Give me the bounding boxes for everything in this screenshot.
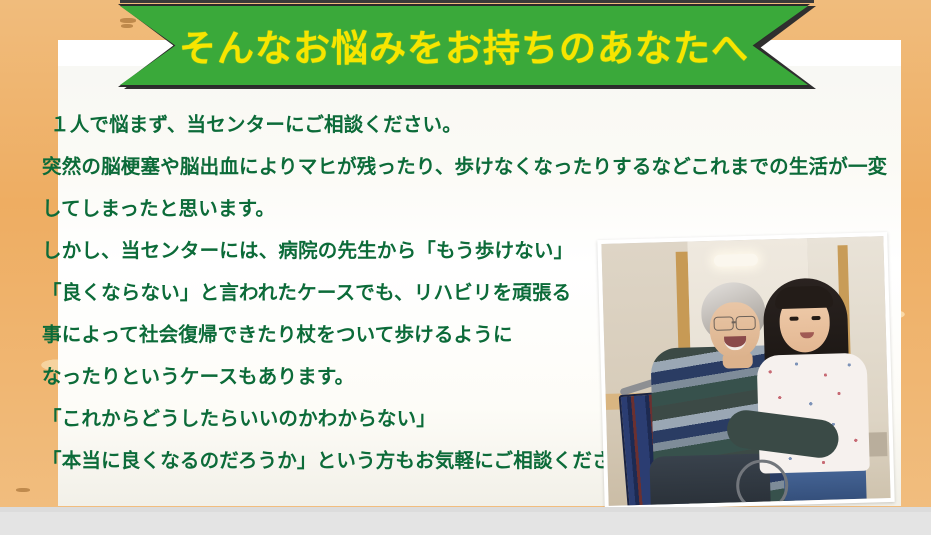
photo-woman-glasses-right — [735, 316, 755, 331]
ribbon-banner: そんなお悩みをお持ちのあなたへ — [118, 0, 818, 92]
photo-ceiling-light — [714, 254, 758, 267]
photo-image — [601, 236, 890, 506]
body-line: しかし、当センターには、病院の先生から「もう歩けない」 — [42, 230, 682, 272]
photo-woman-glasses-left — [713, 316, 733, 331]
body-line: １人で悩まず、当センターにご相談ください。 — [42, 104, 682, 146]
body-line: 突然の脳梗塞や脳出血によりマヒが残ったり、歩けなくなったりするなどこれまでの生活… — [42, 146, 682, 188]
photo-girl-bangs — [775, 286, 834, 310]
body-line: 事によって社会復帰できたり杖をついて歩けるように — [42, 314, 682, 356]
body-line: してしまったと思います。 — [42, 188, 682, 230]
ribbon-body: そんなお悩みをお持ちのあなたへ — [120, 6, 808, 85]
bottom-strip — [0, 507, 931, 535]
photo-woman-glasses-bridge — [732, 321, 736, 323]
promo-banner-stage: そんなお悩みをお持ちのあなたへ １人で悩まず、当センターにご相談ください。 突然… — [0, 0, 931, 535]
bottom-strip-highlight — [0, 507, 931, 512]
photo-elderly-woman-and-girl — [597, 232, 894, 510]
photo-girl-eye-left — [790, 317, 799, 321]
body-copy: １人で悩まず、当センターにご相談ください。 突然の脳梗塞や脳出血によりマヒが残っ… — [42, 104, 682, 482]
body-line: 「本当に良くなるのだろうか」という方もお気軽にご相談ください。 — [42, 440, 682, 482]
body-line: なったりというケースもあります。 — [42, 356, 682, 398]
photo-girl-eye-right — [811, 316, 820, 320]
body-line: 「良くならない」と言われたケースでも、リハビリを頑張る — [42, 272, 682, 314]
cork-speck — [16, 488, 30, 492]
body-line: 「これからどうしたらいいのかわからない」 — [42, 398, 682, 440]
banner-title: そんなお悩みをお持ちのあなたへ — [179, 18, 749, 72]
